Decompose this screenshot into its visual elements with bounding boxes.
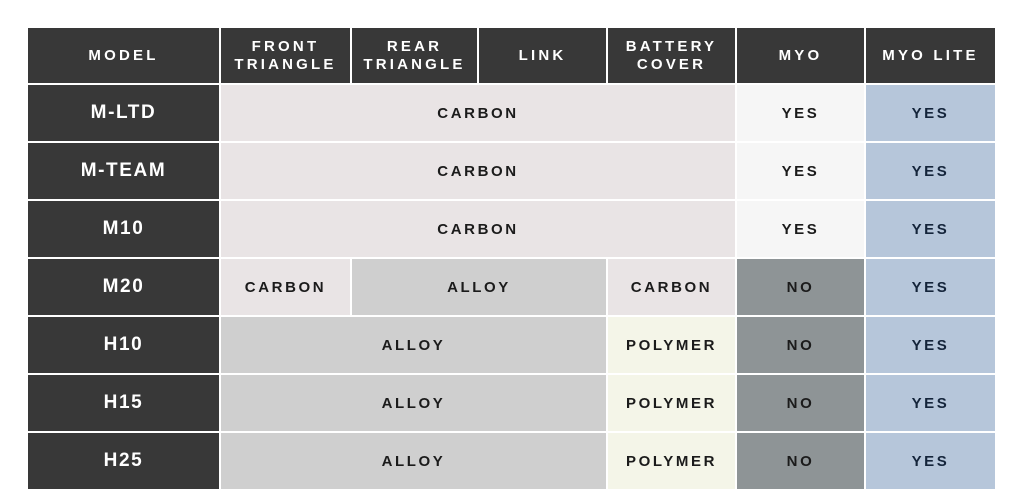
spec-cell: YES [737, 85, 866, 143]
column-header-myo: MYO [737, 28, 866, 85]
spec-cell: CARBON [608, 259, 737, 317]
column-header-label: BATTERY [626, 38, 718, 55]
spec-cell: YES [737, 143, 866, 201]
column-header-label: LINK [519, 47, 567, 64]
column-header-rear_triangle: REARTRIANGLE [352, 28, 479, 85]
column-header-battery_cover: BATTERYCOVER [608, 28, 737, 85]
column-header-label: FRONT [252, 38, 320, 55]
spec-cell: ALLOY [221, 433, 608, 489]
model-name-cell: M-TEAM [28, 143, 221, 201]
spec-cell: YES [866, 201, 995, 259]
column-header-label: MODEL [88, 47, 158, 64]
column-header-label-line2: TRIANGLE [352, 56, 477, 74]
column-header-link: LINK [479, 28, 608, 85]
column-header-label: MYO [779, 47, 823, 64]
spec-cell: YES [737, 201, 866, 259]
spec-cell: ALLOY [221, 375, 608, 433]
column-header-label-line2: COVER [608, 56, 735, 74]
spec-cell: CARBON [221, 143, 737, 201]
table-row: M10CARBONYESYES [28, 201, 995, 259]
spec-cell: POLYMER [608, 375, 737, 433]
spec-cell: NO [737, 433, 866, 489]
spec-cell: POLYMER [608, 317, 737, 375]
spec-cell: ALLOY [352, 259, 608, 317]
spec-cell: YES [866, 317, 995, 375]
column-header-label-line2: TRIANGLE [221, 56, 350, 74]
model-name-cell: H25 [28, 433, 221, 489]
spec-cell: YES [866, 85, 995, 143]
column-header-label: REAR [387, 38, 442, 55]
table-row: M20CARBONALLOYCARBONNOYES [28, 259, 995, 317]
spec-cell: NO [737, 317, 866, 375]
spec-cell: NO [737, 259, 866, 317]
spec-cell: YES [866, 259, 995, 317]
table-row: H10ALLOYPOLYMERNOYES [28, 317, 995, 375]
column-header-myo_lite: MYO LITE [866, 28, 995, 85]
column-header-front_triangle: FRONTTRIANGLE [221, 28, 352, 85]
table-row: H15ALLOYPOLYMERNOYES [28, 375, 995, 433]
table-header: MODELFRONTTRIANGLEREARTRIANGLELINKBATTER… [28, 28, 995, 85]
column-header-label: MYO LITE [882, 47, 978, 64]
table-row: M-LTDCARBONYESYES [28, 85, 995, 143]
model-name-cell: H15 [28, 375, 221, 433]
spec-cell: YES [866, 375, 995, 433]
spec-cell: YES [866, 143, 995, 201]
spec-cell: POLYMER [608, 433, 737, 489]
spec-cell: CARBON [221, 85, 737, 143]
spec-cell: NO [737, 375, 866, 433]
header-row: MODELFRONTTRIANGLEREARTRIANGLELINKBATTER… [28, 28, 995, 85]
spec-cell: CARBON [221, 201, 737, 259]
column-header-model: MODEL [28, 28, 221, 85]
model-spec-table: MODELFRONTTRIANGLEREARTRIANGLELINKBATTER… [28, 28, 995, 489]
model-name-cell: M10 [28, 201, 221, 259]
table-row: H25ALLOYPOLYMERNOYES [28, 433, 995, 489]
spec-cell: CARBON [221, 259, 352, 317]
model-name-cell: M-LTD [28, 85, 221, 143]
table-row: M-TEAMCARBONYESYES [28, 143, 995, 201]
table-body: M-LTDCARBONYESYESM-TEAMCARBONYESYESM10CA… [28, 85, 995, 489]
model-name-cell: H10 [28, 317, 221, 375]
spec-cell: ALLOY [221, 317, 608, 375]
spec-cell: YES [866, 433, 995, 489]
model-name-cell: M20 [28, 259, 221, 317]
